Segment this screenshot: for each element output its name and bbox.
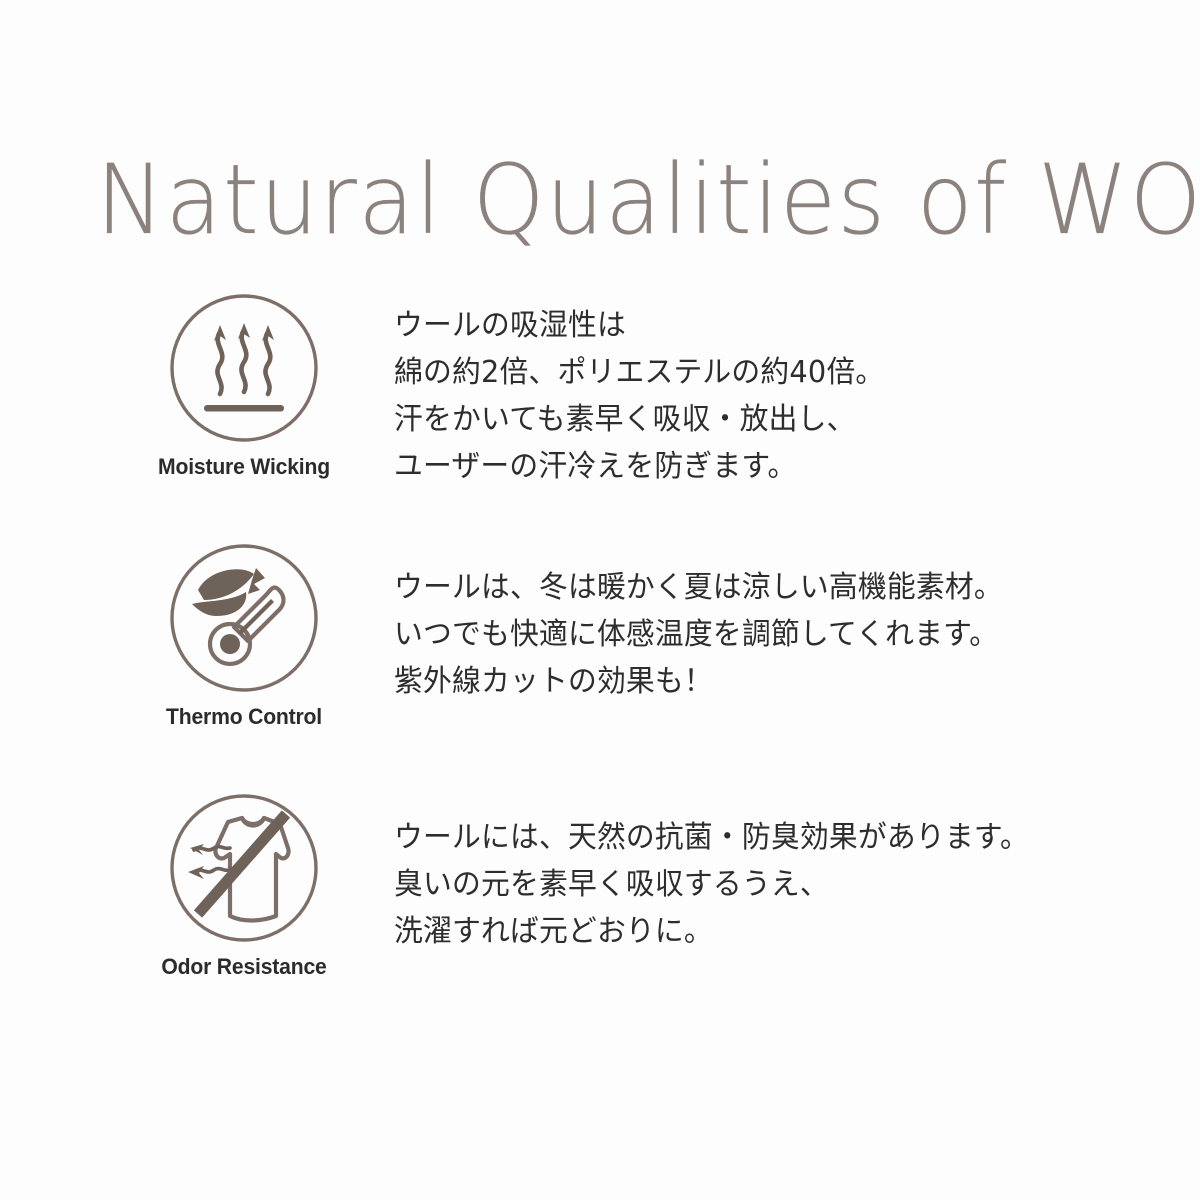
body-line: 紫外線カットの効果も！ bbox=[394, 658, 1104, 705]
body-line: 臭いの元を素早く吸収するうえ、 bbox=[394, 861, 1104, 908]
feature-label-odor-resistance: Odor Resistance bbox=[135, 954, 353, 980]
body-line: いつでも快適に体感温度を調節してくれます。 bbox=[394, 611, 1104, 658]
thermo-control-icon bbox=[168, 542, 320, 694]
body-line: 綿の約2倍、ポリエステルの約40倍。 bbox=[394, 349, 1104, 396]
body-line: ウールは、冬は暖かく夏は涼しい高機能素材。 bbox=[394, 564, 1104, 611]
feature-text-thermo-control: ウールは、冬は暖かく夏は涼しい高機能素材。 いつでも快適に体感温度を調節してくれ… bbox=[394, 564, 1134, 705]
feature-label-moisture-wicking: Moisture Wicking bbox=[135, 454, 353, 480]
icon-column: Moisture Wicking bbox=[128, 292, 360, 480]
page-title: Natural Qualities of WOOL bbox=[96, 146, 1084, 254]
moisture-wicking-icon bbox=[168, 292, 320, 444]
feature-text-odor-resistance: ウールには、天然の抗菌・防臭効果があります。 臭いの元を素早く吸収するうえ、 洗… bbox=[394, 814, 1134, 955]
icon-column: Odor Resistance bbox=[128, 792, 360, 980]
poster-canvas: Natural Qualities of WOOL bbox=[0, 0, 1200, 1200]
odor-resistance-icon bbox=[168, 792, 320, 944]
icon-column: Thermo Control bbox=[128, 542, 360, 730]
body-line: ウールの吸湿性は bbox=[394, 302, 1104, 349]
body-line: ユーザーの汗冷えを防ぎます。 bbox=[394, 443, 1104, 490]
body-line: 洗濯すれば元どおりに。 bbox=[394, 908, 1104, 955]
feature-text-moisture-wicking: ウールの吸湿性は 綿の約2倍、ポリエステルの約40倍。 汗をかいても素早く吸収・… bbox=[394, 302, 1134, 490]
body-line: 汗をかいても素早く吸収・放出し、 bbox=[394, 396, 1104, 443]
body-line: ウールには、天然の抗菌・防臭効果があります。 bbox=[394, 814, 1104, 861]
feature-label-thermo-control: Thermo Control bbox=[135, 704, 353, 730]
